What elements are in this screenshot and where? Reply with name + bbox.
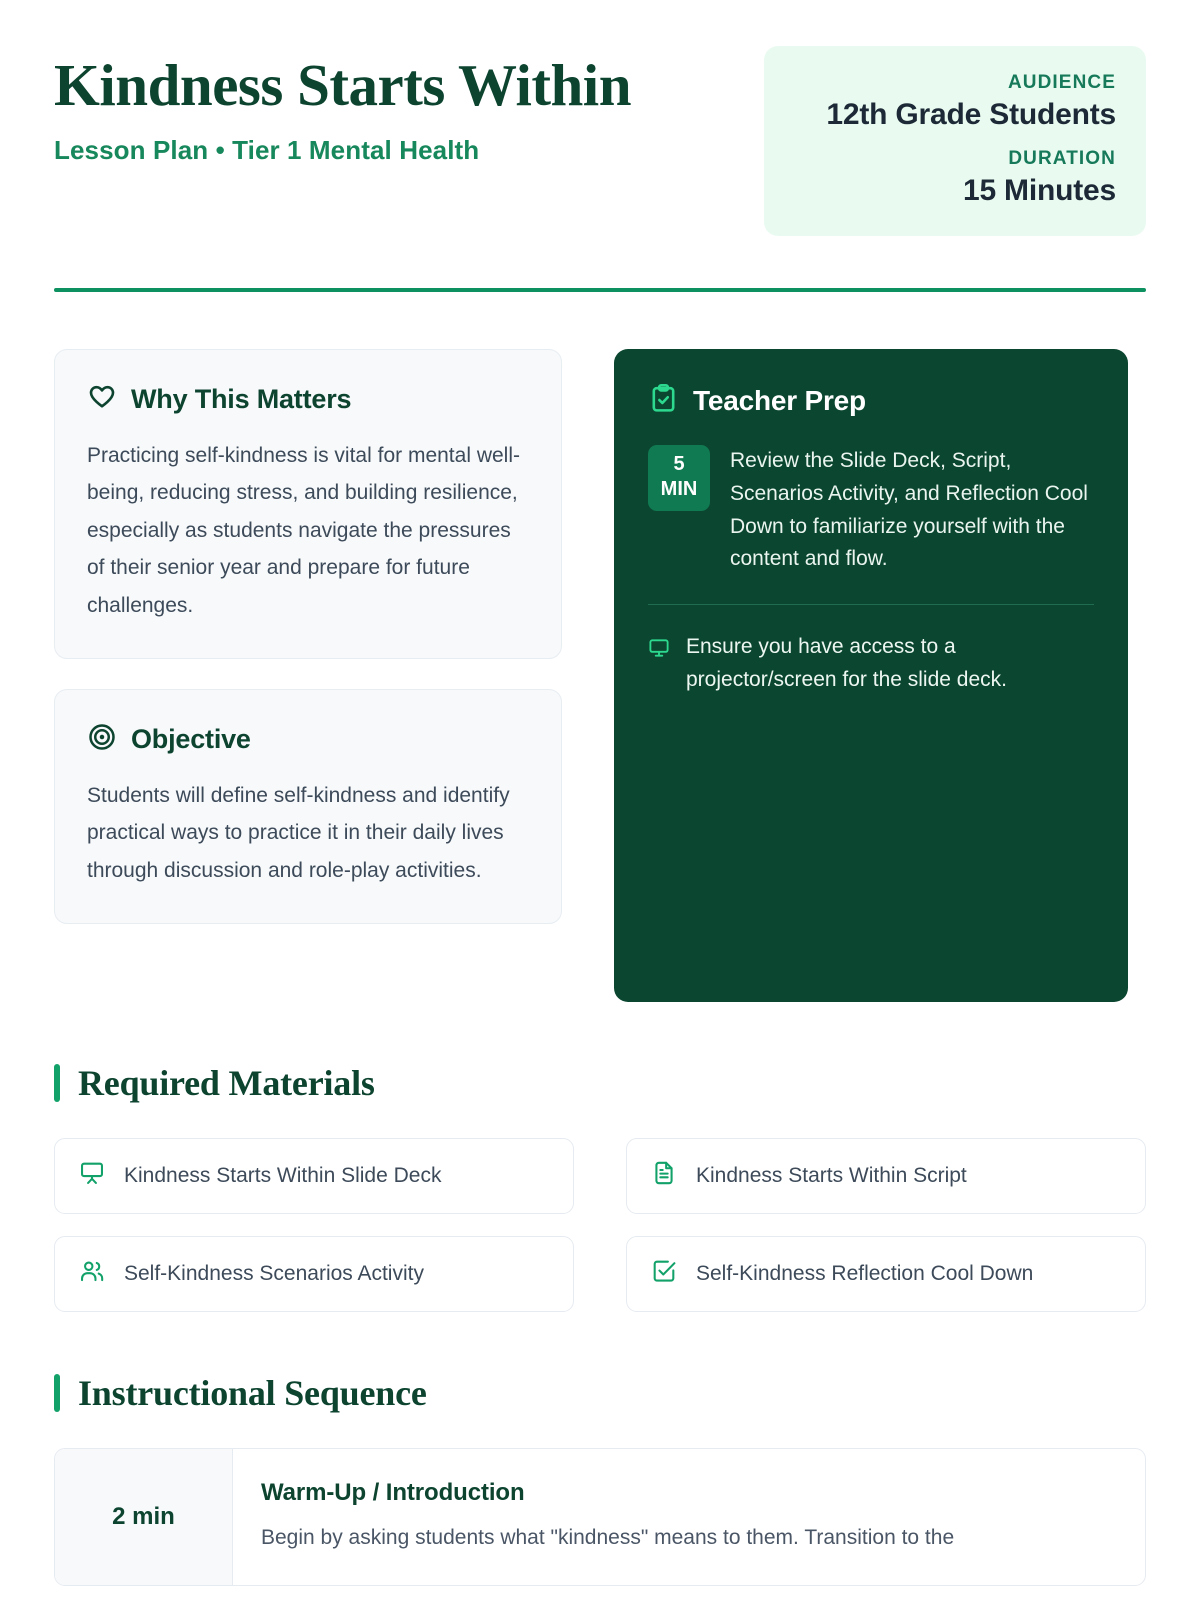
teacher-prep-title: Teacher Prep [693,385,866,417]
heart-icon [87,382,117,417]
users-icon [79,1258,105,1290]
target-icon [87,722,117,757]
prep-task-text: Review the Slide Deck, Script, Scenarios… [730,445,1094,576]
overview-columns: Why This Matters Practicing self-kindnes… [54,349,1146,1002]
material-item-script[interactable]: Kindness Starts Within Script [626,1138,1146,1214]
instructional-sequence-table: 2 min Warm-Up / Introduction Begin by as… [54,1448,1146,1586]
sequence-section-heading: Instructional Sequence [54,1372,1146,1414]
table-row: 2 min Warm-Up / Introduction Begin by as… [55,1449,1145,1585]
objective-card-title: Objective [131,724,251,755]
presentation-icon [79,1160,105,1192]
duration-label: DURATION [794,148,1116,170]
objective-card-header: Objective [87,722,529,757]
material-item-slide-deck[interactable]: Kindness Starts Within Slide Deck [54,1138,574,1214]
material-item-reflection-cool-down[interactable]: Self-Kindness Reflection Cool Down [626,1236,1146,1312]
sequence-row-title: Warm-Up / Introduction [261,1479,1115,1507]
clipboard-check-icon [648,383,679,419]
duration-value: 15 Minutes [794,174,1116,208]
sequence-row-description: Begin by asking students what "kindness"… [261,1521,1115,1555]
right-column: Teacher Prep 5 MIN Review the Slide Deck… [614,349,1128,1002]
materials-grid: Kindness Starts Within Slide Deck Kindne… [54,1138,1146,1312]
meta-info-box: AUDIENCE 12th Grade Students DURATION 15… [764,46,1146,236]
audience-label: AUDIENCE [794,72,1116,94]
prep-divider [648,604,1094,605]
page-subtitle: Lesson Plan • Tier 1 Mental Health [54,135,631,166]
prep-badge-number: 5 [648,452,710,477]
prep-badge-unit: MIN [648,477,710,502]
document-icon [651,1160,677,1192]
sequence-row-content: Warm-Up / Introduction Begin by asking s… [233,1449,1145,1585]
material-label: Kindness Starts Within Slide Deck [124,1164,441,1188]
check-square-icon [651,1258,677,1290]
materials-heading-text: Required Materials [78,1062,375,1104]
prep-note-text: Ensure you have access to a projector/sc… [686,631,1094,697]
audience-group: AUDIENCE 12th Grade Students [794,72,1116,132]
prep-duration-badge: 5 MIN [648,445,710,511]
accent-bar [54,1374,60,1412]
page-title: Kindness Starts Within [54,54,631,117]
teacher-prep-card: Teacher Prep 5 MIN Review the Slide Deck… [614,349,1128,1002]
teacher-prep-note: Ensure you have access to a projector/sc… [648,631,1094,697]
material-item-scenarios-activity[interactable]: Self-Kindness Scenarios Activity [54,1236,574,1312]
material-label: Self-Kindness Scenarios Activity [124,1262,424,1286]
sequence-heading-text: Instructional Sequence [78,1372,427,1414]
why-card-body: Practicing self-kindness is vital for me… [87,437,529,624]
header-divider [54,288,1146,292]
duration-group: DURATION 15 Minutes [794,148,1116,208]
lesson-plan-page: Kindness Starts Within Lesson Plan • Tie… [0,0,1200,1600]
accent-bar [54,1064,60,1102]
materials-section-heading: Required Materials [54,1062,1146,1104]
left-column: Why This Matters Practicing self-kindnes… [54,349,562,1002]
header-title-block: Kindness Starts Within Lesson Plan • Tie… [54,46,631,166]
why-card-header: Why This Matters [87,382,529,417]
teacher-prep-task: 5 MIN Review the Slide Deck, Script, Sce… [648,445,1094,576]
monitor-icon [648,637,670,664]
teacher-prep-header: Teacher Prep [648,383,1094,419]
why-card-title: Why This Matters [131,384,351,415]
why-this-matters-card: Why This Matters Practicing self-kindnes… [54,349,562,659]
document-header: Kindness Starts Within Lesson Plan • Tie… [54,46,1146,236]
objective-card: Objective Students will define self-kind… [54,689,562,924]
objective-card-body: Students will define self-kindness and i… [87,777,529,889]
material-label: Kindness Starts Within Script [696,1164,967,1188]
audience-value: 12th Grade Students [794,98,1116,132]
material-label: Self-Kindness Reflection Cool Down [696,1262,1033,1286]
sequence-row-time: 2 min [55,1449,233,1585]
